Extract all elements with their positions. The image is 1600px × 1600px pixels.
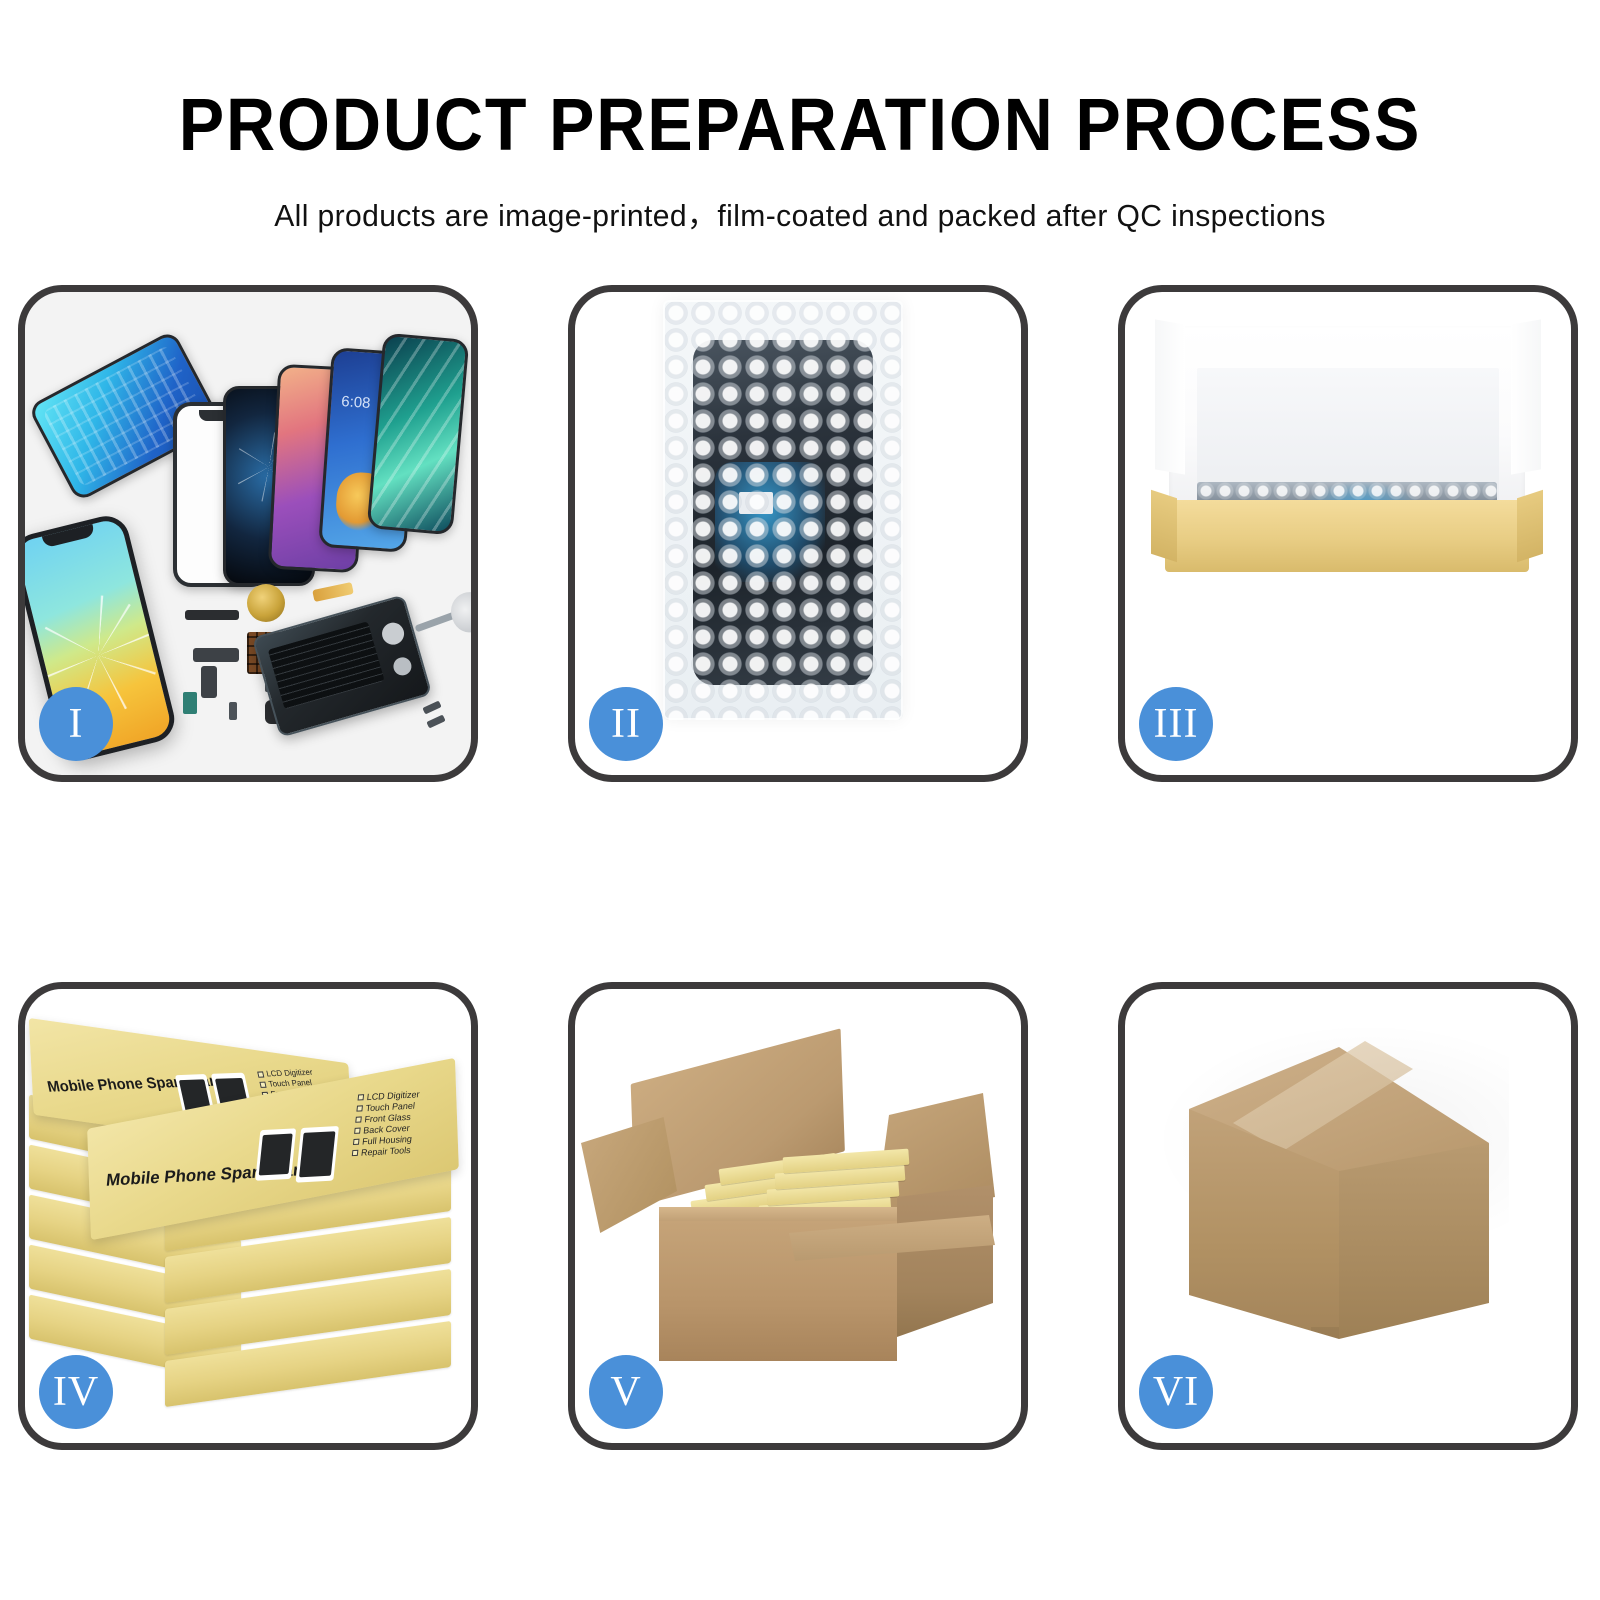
bubble-wrap-package	[663, 300, 903, 720]
flex-cable-part	[312, 582, 354, 602]
step-badge-1: I	[39, 687, 113, 761]
step-panel-2[interactable]: II	[568, 285, 1028, 782]
phone-clock-label: 6:08	[341, 393, 371, 412]
sim-tray-part	[183, 692, 197, 714]
infographic-root: PRODUCT PREPARATION PROCESS All products…	[0, 0, 1600, 1600]
button-part	[229, 702, 237, 720]
camera-flex-part	[193, 648, 239, 662]
step-panel-1[interactable]: 6:08	[18, 285, 478, 782]
box-thumbnail	[296, 1126, 339, 1183]
teal-display-screen	[367, 333, 470, 536]
checkbox-icon	[353, 1139, 360, 1145]
box-thumbnail	[255, 1128, 296, 1180]
checkbox-icon	[355, 1116, 362, 1122]
lid-flap-left	[1155, 319, 1185, 474]
step-badge-4: IV	[39, 1355, 113, 1429]
step-badge-2: II	[589, 687, 663, 761]
step-badge-5: V	[589, 1355, 663, 1429]
checkbox-icon	[356, 1105, 363, 1111]
step-panel-5[interactable]: V	[568, 982, 1028, 1450]
step-panel-6[interactable]: VI	[1118, 982, 1578, 1450]
connector-flex-part	[201, 666, 217, 698]
carton-tab	[1311, 1439, 1345, 1443]
step-panel-4[interactable]: Mobile Phone Spare Parts LCD Digitizer T…	[18, 982, 478, 1450]
page-title: PRODUCT PREPARATION PROCESS	[64, 88, 1536, 162]
yellow-box-base	[1165, 500, 1529, 572]
lid-flap-right	[1511, 319, 1541, 474]
checklist-label: LCD Digitizer	[265, 1068, 313, 1079]
step-badge-6: VI	[1139, 1355, 1213, 1429]
header: PRODUCT PREPARATION PROCESS All products…	[0, 0, 1600, 235]
page-subtitle: All products are image-printed，film-coat…	[24, 190, 1576, 235]
checkbox-icon	[257, 1071, 264, 1077]
checkbox-icon	[358, 1094, 365, 1100]
wireless-charging-coil-part	[247, 584, 285, 622]
checkbox-icon	[259, 1081, 266, 1087]
checklist-item: Repair Tools	[352, 1145, 415, 1158]
screw-part	[422, 701, 441, 715]
speaker-grille-part	[185, 610, 239, 620]
checkbox-icon	[352, 1150, 359, 1156]
checklist-label: Repair Tools	[361, 1145, 412, 1158]
checkbox-icon	[354, 1128, 361, 1134]
box-product-thumbnails	[255, 1126, 339, 1185]
foam-insert	[1197, 368, 1499, 500]
step-badge-3: III	[1139, 687, 1213, 761]
box-checklist: LCD Digitizer Touch Panel Front Glass Ba…	[352, 1089, 420, 1158]
sealed-carton-front-right	[1339, 1143, 1489, 1375]
step-panel-3[interactable]: III	[1118, 285, 1578, 782]
carton-side-panel	[897, 1185, 993, 1337]
screw-part	[426, 715, 445, 729]
package-edge	[663, 300, 903, 720]
